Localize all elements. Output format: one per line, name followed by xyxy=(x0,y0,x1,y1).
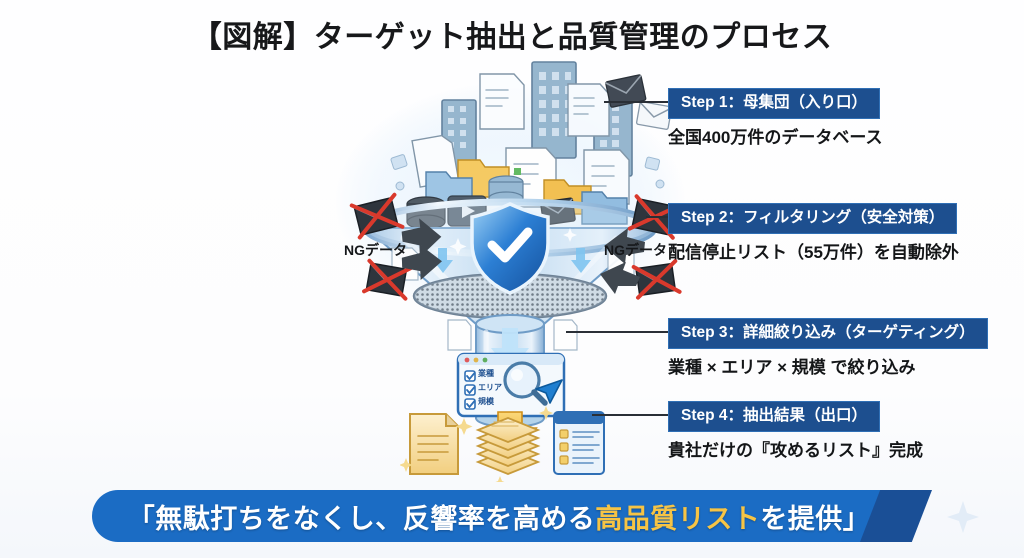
step-2-description: 配信停止リスト（55万件）を自動除外 xyxy=(668,243,959,263)
summary-banner: 「無駄打ちをなくし、反響率を高める高品質リストを提供」 xyxy=(92,490,932,542)
banner-prefix: 「無駄打ちをなくし、反響率を高める xyxy=(128,504,596,534)
ng-data-label-right: NGデータ xyxy=(604,240,667,260)
banner-text: 「無駄打ちをなくし、反響率を高める高品質リストを提供」 xyxy=(128,497,897,536)
filter-item-industry[interactable]: 業種 xyxy=(478,367,502,381)
rejected-envelope-icon xyxy=(352,195,403,238)
connector-step-2 xyxy=(646,216,670,218)
connector-step-3 xyxy=(566,331,670,333)
output-documents-illustration xyxy=(400,400,610,482)
page-title: 【図解】ターゲット抽出と品質管理のプロセス xyxy=(0,12,1024,56)
sparkle-icon xyxy=(946,500,980,534)
connector-step-1 xyxy=(604,101,670,103)
step-4-description: 貴社だけの『攻めるリスト』完成 xyxy=(668,441,923,461)
step-4-callout: Step 4：抽出結果（出口） 貴社だけの『攻めるリスト』完成 xyxy=(668,401,923,460)
step-1-description: 全国400万件のデータベース xyxy=(668,128,883,148)
step-3-label[interactable]: Step 3：詳細絞り込み（ターゲティング） xyxy=(668,318,988,349)
filter-item-area[interactable]: エリア xyxy=(478,381,502,395)
step-4-label[interactable]: Step 4：抽出結果（出口） xyxy=(668,401,880,432)
infographic-canvas: 【図解】ターゲット抽出と品質管理のプロセス xyxy=(0,0,1024,558)
banner-background: 「無駄打ちをなくし、反響率を高める高品質リストを提供」 xyxy=(92,490,932,542)
step-1-callout: Step 1：母集団（入り口） 全国400万件のデータベース xyxy=(668,88,883,147)
connector-step-4 xyxy=(592,414,670,416)
step-2-label[interactable]: Step 2：フィルタリング（安全対策） xyxy=(668,203,957,234)
banner-highlight: 高品質リスト xyxy=(595,504,760,534)
step-3-description: 業種 × エリア × 規模 で絞り込み xyxy=(668,358,988,378)
rejected-envelope-icon xyxy=(634,261,680,298)
step-3-callout: Step 3：詳細絞り込み（ターゲティング） 業種 × エリア × 規模 で絞り… xyxy=(668,318,988,377)
ng-data-label-left: NGデータ xyxy=(344,240,407,260)
banner-suffix: を提供」 xyxy=(760,504,870,534)
step-1-label[interactable]: Step 1：母集団（入り口） xyxy=(668,88,880,119)
step-2-callout: Step 2：フィルタリング（安全対策） 配信停止リスト（55万件）を自動除外 xyxy=(668,203,959,262)
result-checklist-icon xyxy=(554,412,604,474)
gold-document-icon xyxy=(410,414,458,474)
gold-document-stack-icon xyxy=(478,418,538,474)
